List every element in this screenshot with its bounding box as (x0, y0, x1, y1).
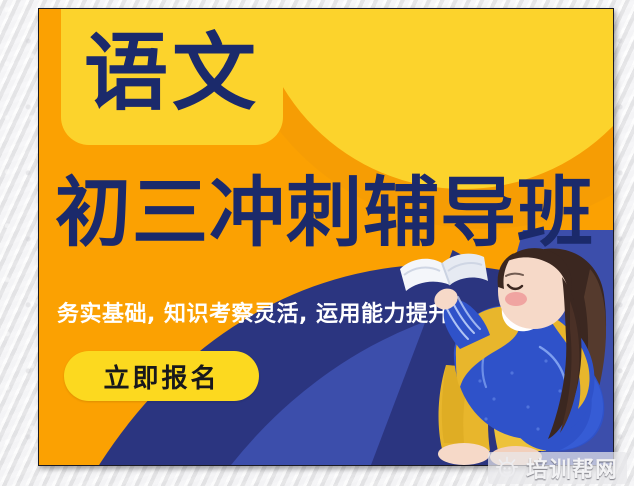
decor-yellow-wedge (253, 8, 614, 189)
watermark-label: 培训帮网 (526, 452, 618, 484)
sun-face-icon (495, 456, 519, 480)
subject-badge-label: 语文 (84, 31, 260, 145)
watermark: 培训帮网 (488, 452, 627, 484)
page-title: 初三冲刺辅导班 (55, 175, 614, 251)
enroll-now-button[interactable]: 立即报名 (64, 351, 259, 401)
enroll-now-button-label: 立即报名 (103, 358, 219, 395)
subject-badge: 语文 (61, 8, 283, 145)
poster-canvas: 语文 初三冲刺辅导班 务实基础, 知识考察灵活, 运用能力提升 立即报名 (0, 0, 634, 486)
girl-reading-illustration (394, 241, 614, 466)
poster-card: 语文 初三冲刺辅导班 务实基础, 知识考察灵活, 运用能力提升 立即报名 (38, 8, 614, 466)
